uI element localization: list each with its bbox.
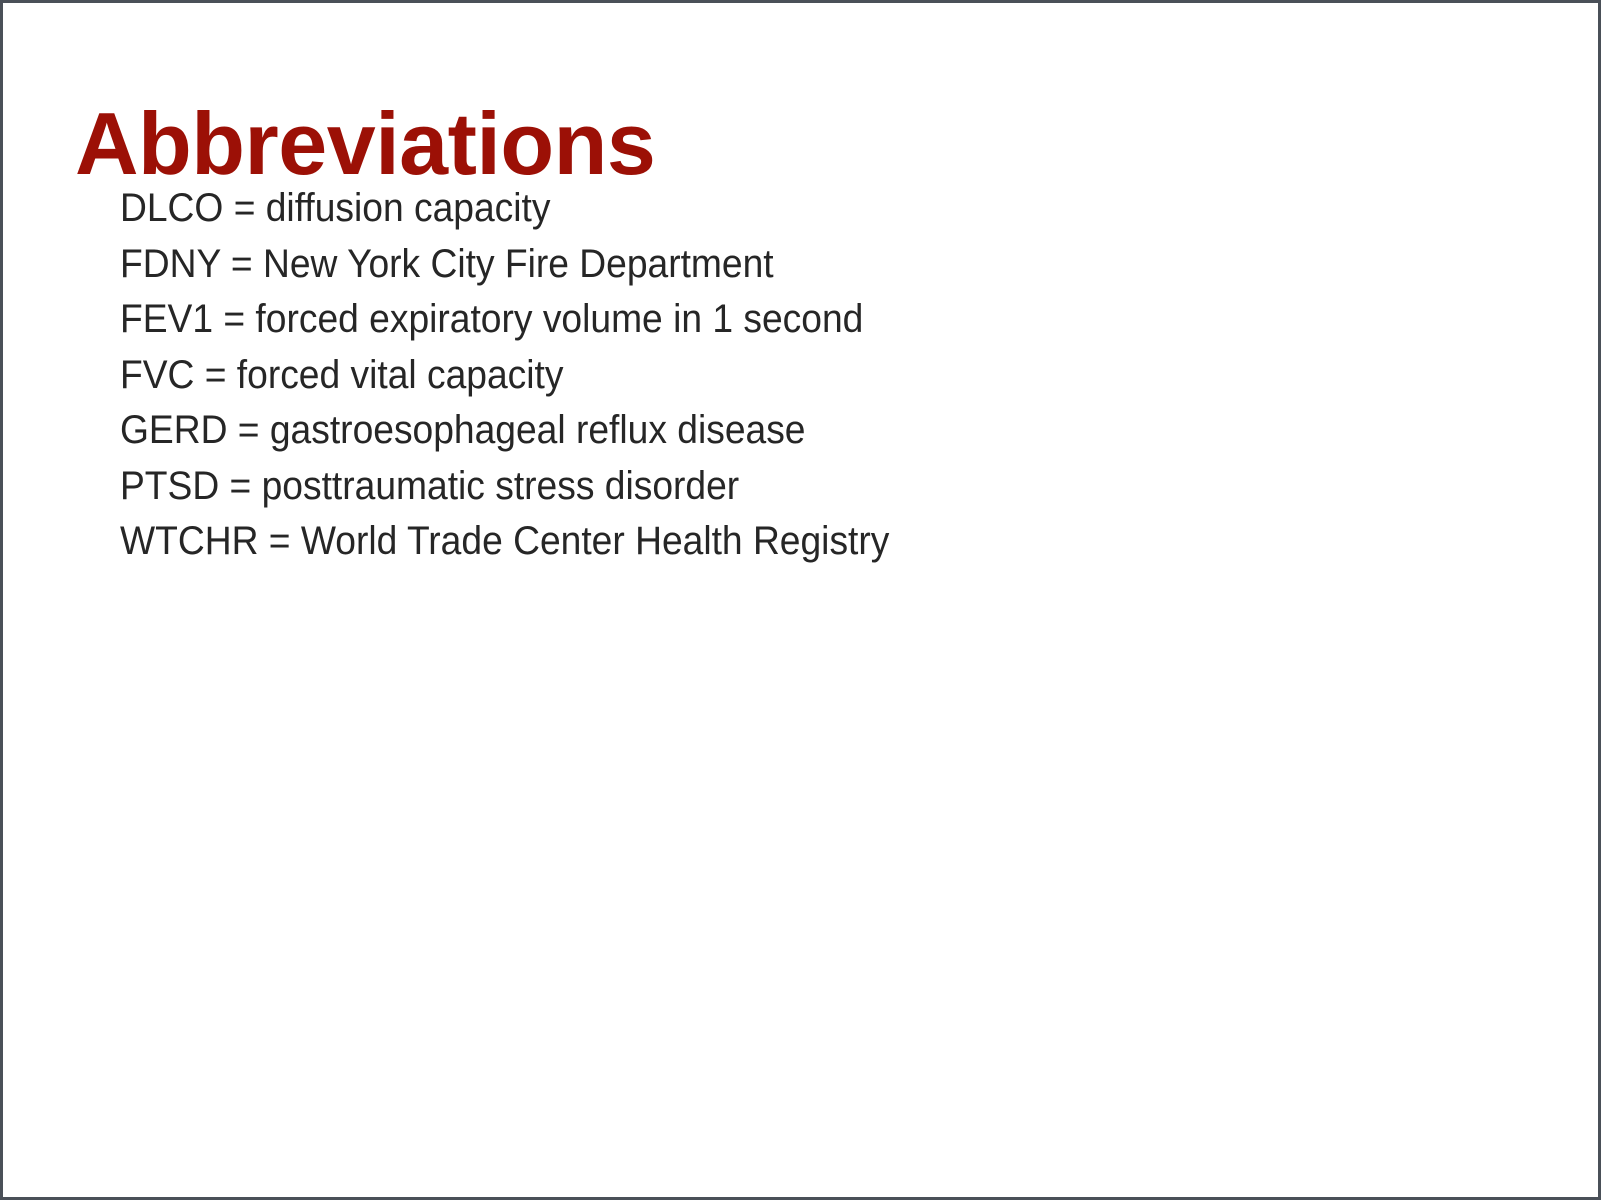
page-title: Abbreviations — [75, 100, 1515, 188]
list-item: FVC = forced vital capacity — [120, 348, 1329, 404]
slide-empty-content-area — [120, 578, 1480, 1168]
list-item: WTCHR = World Trade Center Health Regist… — [120, 514, 1329, 570]
list-item: FDNY = New York City Fire Department — [120, 237, 1329, 293]
list-item: PTSD = posttraumatic stress disorder — [120, 459, 1329, 515]
abbreviation-list: DLCO = diffusion capacity FDNY = New Yor… — [120, 181, 1420, 570]
presentation-slide: Abbreviations DLCO = diffusion capacity … — [0, 0, 1601, 1200]
list-item: DLCO = diffusion capacity — [120, 181, 1329, 237]
list-item: FEV1 = forced expiratory volume in 1 sec… — [120, 292, 1329, 348]
list-item: GERD = gastroesophageal reflux disease — [120, 403, 1329, 459]
